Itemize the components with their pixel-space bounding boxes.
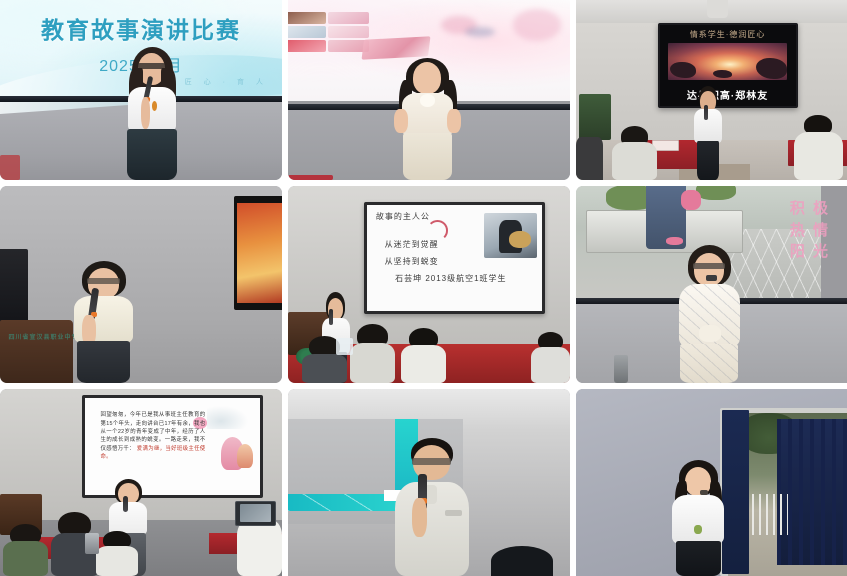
speaker-figure [65, 261, 144, 383]
photo-tile-2[interactable] [288, 0, 570, 180]
slide-arc-decoration [427, 220, 448, 241]
photo-tile-9[interactable] [576, 389, 847, 576]
photo-tile-1[interactable]: 教育故事演讲比赛 2025年7月 匠 心 · 育 人 [0, 0, 282, 180]
photo-7-scene: 回望匆匆，今年已是我从事班主任教育的第15个年头，走向讲台已17年有余，我也从一… [0, 389, 282, 576]
wall-poster [234, 196, 282, 310]
led-slide-title: 情系学生·德润匠心 [660, 29, 796, 40]
photo-shoe-2 [666, 237, 684, 246]
guitar-body [509, 231, 531, 248]
photo-6-scene: 积 极 热 情 阳 光 [576, 186, 847, 383]
photo-8-scene [288, 389, 570, 576]
photo-shrub-2 [696, 186, 736, 200]
photo-tile-4[interactable]: 四川省宣汉县职业中专学校 [0, 186, 282, 383]
audience-member-1 [350, 324, 395, 383]
slide-pink-paper [362, 37, 431, 60]
audience-member-4 [531, 332, 570, 383]
foreground-red-strip [288, 175, 333, 180]
audience-member-3 [576, 137, 603, 180]
slide-calligraphy: 积 极 热 情 阳 光 [777, 198, 842, 263]
photo-tile-8[interactable] [288, 389, 570, 576]
podium [579, 94, 612, 141]
shirt-logo [445, 510, 462, 517]
audience-member-2 [3, 524, 48, 576]
speaker-figure [671, 245, 747, 383]
calligraphy-line-3: 阳 光 [777, 241, 842, 263]
audience-member-3 [401, 328, 446, 383]
thermos-bottle [85, 533, 99, 554]
slide-footer-text: 匠 心 · 育 人 [185, 77, 268, 87]
photo-gallery-grid: 教育故事演讲比赛 2025年7月 匠 心 · 育 人 [0, 0, 847, 570]
loudspeaker [0, 249, 28, 328]
slide-blur-shape-3 [465, 27, 495, 37]
photo-4-scene: 四川省宣汉县职业中专学校 [0, 186, 282, 383]
water-bottle [336, 338, 353, 356]
smartphone-camera [235, 501, 276, 525]
thermos-bottle [614, 355, 628, 383]
dress-bow [699, 325, 722, 342]
slide-heading: 故事的主人公 [376, 211, 430, 222]
slide-line-1: 从迷茫到觉醒 [385, 239, 439, 250]
slide-blur-shape-2 [513, 9, 561, 40]
ceiling-vent [707, 0, 729, 18]
photo-tile-3[interactable]: 情系学生·德润匠心 达县职高·郑林友 [576, 0, 847, 180]
held-object [694, 525, 702, 534]
photo-2-scene [288, 0, 570, 180]
photo-tile-6[interactable]: 积 极 热 情 阳 光 [576, 186, 847, 383]
poster-artwork [237, 203, 282, 304]
slide-line-3: 石芸坤 2013级航空1班学生 [395, 273, 506, 284]
speaker-figure [116, 47, 189, 180]
slide-paragraph: 回望匆匆，今年已是我从事班主任教育的第15个年头，走向讲台已17年有余，我也从一… [101, 411, 206, 461]
led-slide-subtitle: 达县职高·郑林友 [660, 87, 796, 102]
blue-metal-gate [777, 419, 847, 565]
slide-ink-wash-decoration [207, 403, 252, 428]
foreground-red-object [0, 155, 20, 180]
photo-shoe-1 [681, 190, 701, 210]
photo-1-scene: 教育故事演讲比赛 2025年7月 匠 心 · 育 人 [0, 0, 282, 180]
slide-line-2: 从坚持到蜕变 [385, 256, 439, 267]
phone-screen [240, 504, 272, 522]
podium [0, 320, 73, 383]
speaker-figure [666, 460, 731, 576]
photo-tile-5[interactable]: 故事的主人公 从迷茫到觉醒 从坚持到蜕变 石芸坤 2013级航空1班学生 [288, 186, 570, 383]
speaker-figure [690, 86, 725, 180]
outdoor-railing [745, 494, 789, 535]
audience-member-2 [794, 115, 843, 180]
photo-tile-7[interactable]: 回望匆匆，今年已是我从事班主任教育的第15个年头，走向讲台已17年有余，我也从一… [0, 389, 282, 576]
projection-screen: 故事的主人公 从迷茫到觉醒 从坚持到蜕变 石芸坤 2013级航空1班学生 [364, 202, 545, 314]
photo-3-scene: 情系学生·德润匠心 达县职高·郑林友 [576, 0, 847, 180]
audience-head-foreground [491, 546, 553, 576]
led-screen: 情系学生·德润匠心 达县职高·郑林友 [658, 23, 798, 108]
headset-microphone [706, 275, 717, 281]
speaker-figure [390, 58, 466, 180]
audience-member-1 [611, 126, 657, 180]
calligraphy-line-1: 积 极 [777, 198, 842, 220]
slide-figure-2 [237, 444, 253, 467]
photo-9-scene [576, 389, 847, 576]
slide-guitar-photo [484, 213, 536, 258]
led-sunrise-image [668, 43, 788, 80]
speaker-figure [390, 438, 475, 576]
photo-5-scene: 故事的主人公 从迷茫到觉醒 从坚持到蜕变 石芸坤 2013级航空1班学生 [288, 186, 570, 383]
calligraphy-line-2: 热 情 [777, 220, 842, 242]
slide-title: 教育故事演讲比赛 [0, 11, 282, 45]
slide-photo-collage [288, 12, 369, 52]
audience-member-3 [96, 531, 138, 576]
